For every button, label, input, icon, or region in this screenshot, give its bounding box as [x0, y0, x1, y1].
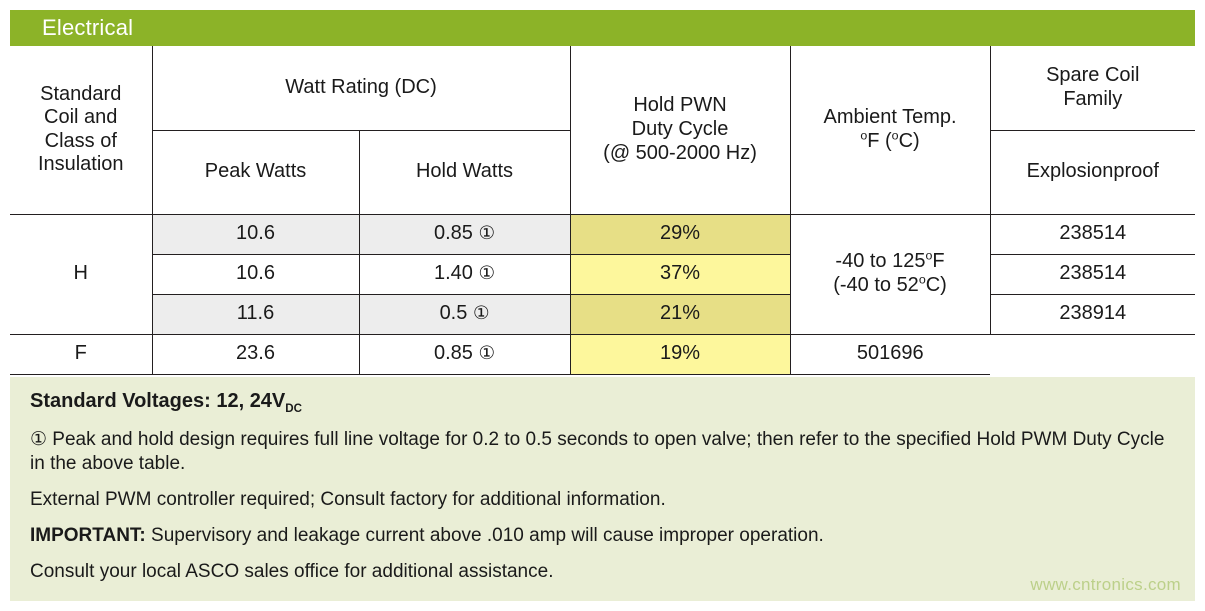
- cell-peak-watts: 10.6: [152, 214, 359, 254]
- cell-hold-watts: 0.85 ①: [359, 214, 570, 254]
- note-marker-icon: ①: [479, 222, 496, 243]
- cell-duty-cycle: 19%: [570, 334, 790, 374]
- standard-voltages-note: Standard Voltages: 12, 24VDC: [30, 389, 1175, 414]
- electrical-spec-table: Standard Coil and Class of Insulation Wa…: [10, 46, 1195, 375]
- page-root: Electrical Standard Coil and Class of In…: [0, 0, 1205, 611]
- cell-spare-coil: 238514: [990, 214, 1195, 254]
- note-important: IMPORTANT: Supervisory and leakage curre…: [30, 524, 1175, 548]
- note-consult-asco: Consult your local ASCO sales office for…: [30, 560, 1175, 584]
- header-line: Ambient Temp.: [824, 106, 957, 128]
- header-line: Duty Cycle: [632, 118, 729, 140]
- header-watt-rating-group: Watt Rating (DC): [152, 46, 570, 130]
- cell-class-h: H: [10, 214, 152, 334]
- header-hold-pwn-duty-cycle: Hold PWN Duty Cycle (@ 500-2000 Hz): [570, 46, 790, 214]
- note-marker-icon: ①: [479, 262, 496, 283]
- header-spare-coil-family: Spare Coil Family: [990, 46, 1195, 130]
- cell-ambient-temp: -40 to 125oF (-40 to 52oC): [790, 214, 990, 334]
- header-class-of-insulation: Standard Coil and Class of Insulation: [10, 46, 152, 214]
- header-line: Family: [1063, 88, 1122, 110]
- header-ambient-units: oF (oC): [860, 130, 919, 152]
- note-marker-icon: ①: [479, 342, 496, 363]
- table-row: 11.6 0.5 ① 21% 238914: [10, 294, 1195, 334]
- table-row: H 10.6 0.85 ① 29% -40 to 125oF (-40 to 5…: [10, 214, 1195, 254]
- note-important-label: IMPORTANT:: [30, 525, 146, 546]
- notes-panel: Standard Voltages: 12, 24VDC ① Peak and …: [10, 377, 1195, 601]
- cell-class-f: F: [10, 334, 152, 374]
- cell-spare-coil: 238914: [990, 294, 1195, 334]
- cell-duty-cycle: 21%: [570, 294, 790, 334]
- header-line: Standard: [40, 83, 121, 105]
- cell-hold-watts: 0.5 ①: [359, 294, 570, 334]
- header-line: Spare Coil: [1046, 64, 1139, 86]
- cell-hold-watts: 0.85 ①: [359, 334, 570, 374]
- header-line: Class of: [45, 130, 117, 152]
- table-row: 10.6 1.40 ① 37% 238514: [10, 254, 1195, 294]
- header-ambient-temp: Ambient Temp. oF (oC): [790, 46, 990, 214]
- cell-peak-watts: 10.6: [152, 254, 359, 294]
- cell-spare-coil: 501696: [790, 334, 990, 374]
- cell-peak-watts: 23.6: [152, 334, 359, 374]
- section-header-bar: Electrical: [10, 10, 1195, 46]
- header-line: Coil and: [44, 106, 117, 128]
- cell-duty-cycle: 37%: [570, 254, 790, 294]
- note-marker-icon: ①: [473, 302, 490, 323]
- header-explosionproof: Explosionproof: [990, 130, 1195, 214]
- table-row: F 23.6 0.85 ① 19% 501696: [10, 334, 1195, 374]
- header-line: Insulation: [38, 153, 124, 175]
- note-peak-and-hold: ① Peak and hold design requires full lin…: [30, 428, 1175, 476]
- header-peak-watts: Peak Watts: [152, 130, 359, 214]
- watermark: www.cntronics.com: [1030, 575, 1181, 595]
- header-hold-watts: Hold Watts: [359, 130, 570, 214]
- cell-hold-watts: 1.40 ①: [359, 254, 570, 294]
- cell-spare-coil: 238514: [990, 254, 1195, 294]
- header-line: (@ 500-2000 Hz): [603, 142, 757, 164]
- section-title: Electrical: [42, 16, 133, 40]
- cell-peak-watts: 11.6: [152, 294, 359, 334]
- note-external-pwm: External PWM controller required; Consul…: [30, 488, 1175, 512]
- header-line: Hold PWN: [633, 94, 726, 116]
- cell-duty-cycle: 29%: [570, 214, 790, 254]
- table-header-row-top: Standard Coil and Class of Insulation Wa…: [10, 46, 1195, 130]
